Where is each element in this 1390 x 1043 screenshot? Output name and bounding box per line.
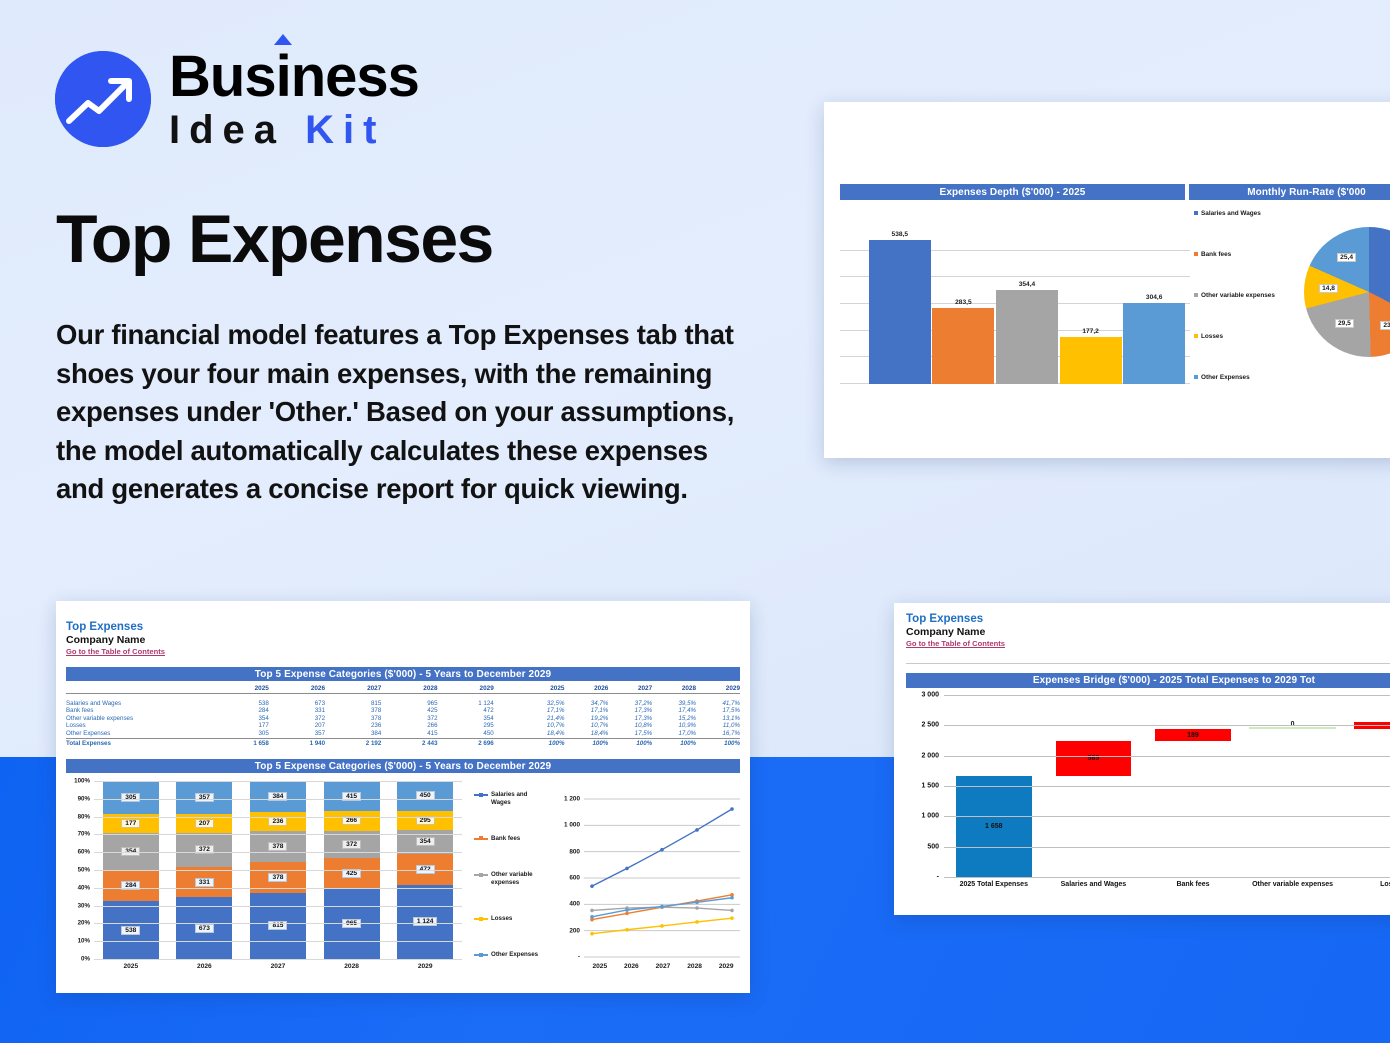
row-label: Bank fees (66, 707, 213, 715)
brand-letter-i-circumflex: i (276, 44, 291, 109)
top5-expense-table: 2025202620272028202920252026202720282029… (66, 685, 740, 747)
chart-title-monthly-run-rate: Monthly Run-Rate ($'000 (1189, 184, 1390, 200)
bar-column: 354,4 (995, 224, 1059, 384)
row-value: 236 (325, 722, 381, 730)
stacked-segment: 538 (103, 901, 159, 959)
y-tick: 70% (78, 831, 90, 838)
legend-label: Other Expenses (1201, 374, 1250, 382)
x-tick: 2026 (168, 963, 242, 970)
row-pct: 34,7% (564, 700, 608, 708)
row-pct: 41,7% (696, 700, 740, 708)
bar-value-label: 283,5 (955, 299, 972, 306)
y-tick: 80% (78, 813, 90, 820)
legend-label: Salaries and Wages (1201, 210, 1261, 218)
legend-label: Other Expenses (491, 951, 538, 959)
table-of-contents-link-bridge[interactable]: Go to the Table of Contents (906, 639, 1005, 648)
bar-rect (1123, 303, 1185, 384)
screenshot-card-expenses-bridge: Top Expenses Company Name Go to the Tabl… (894, 603, 1390, 915)
row-pct: 10,7% (521, 722, 565, 730)
bar-rect (869, 240, 931, 384)
table-of-contents-link[interactable]: Go to the Table of Contents (66, 647, 165, 656)
row-value: 305 (213, 730, 269, 738)
sheet-title: Top Expenses (66, 621, 165, 634)
table-year-header-pct: 2025 (521, 685, 565, 694)
legend-item: Other variable expenses (474, 871, 546, 887)
row-value: 378 (325, 715, 381, 723)
expenses-depth-legend: Salaries and WagesBank feesOther variabl… (1194, 210, 1286, 382)
row-value: 450 (438, 730, 494, 738)
row-pct: 10,8% (608, 722, 652, 730)
bridge-plot: 1 65858518901 (944, 695, 1390, 877)
stacked-segment: 372 (176, 833, 232, 867)
x-tick: Losses (1342, 881, 1390, 888)
y-tick: 2 500 (921, 722, 939, 729)
row-pct: 18,4% (521, 730, 565, 738)
stacked-segment: 378 (250, 831, 306, 862)
bridge-y-axis: -5001 0001 5002 0002 5003 000 (906, 695, 942, 877)
legend-label: Other variable expenses (491, 871, 546, 887)
legend-item: Bank fees (1194, 251, 1286, 259)
screenshot-card-expenses-depth: Expenses Depth ($'000) - 2025 Monthly Ru… (824, 102, 1390, 458)
brand-idea-text: Idea (169, 108, 305, 152)
row-value: 472 (438, 707, 494, 715)
stacked-segment: 357 (176, 781, 232, 814)
table-year-header: 2025 (213, 685, 269, 694)
total-pct: 100% (521, 738, 565, 747)
brand-name-line1: Business (169, 48, 419, 106)
legend-item: Other Expenses (1194, 374, 1286, 382)
sheet-subtitle-bridge: Company Name (906, 626, 1005, 639)
segment-value-label: 354 (416, 837, 435, 846)
row-label: Other variable expenses (66, 715, 213, 723)
table-row: Losses17720723626629510,7%10,7%10,8%10,9… (66, 722, 740, 730)
bridge-chart-title-bar: Expenses Bridge ($'000) - 2025 Total Exp… (906, 673, 1390, 688)
chart-title-expenses-depth: Expenses Depth ($'000) - 2025 (840, 184, 1185, 200)
row-pct: 18,4% (564, 730, 608, 738)
x-tick: 2025 Total Expenses (944, 881, 1044, 888)
line-x-axis: 20252026202720282029 (584, 963, 742, 970)
growth-arrow-icon (55, 51, 151, 147)
bar-series: 538,5283,5354,4177,2304,6 (868, 224, 1186, 384)
stacked-segment: 236 (250, 812, 306, 831)
total-label: Total Expenses (66, 738, 213, 747)
x-tick: Salaries and Wages (1044, 881, 1144, 888)
row-pct: 10,9% (652, 722, 696, 730)
legend-item: Salaries and Wages (474, 791, 546, 807)
expenses-depth-bar-chart: 538,5283,5354,4177,2304,6 (840, 206, 1190, 384)
row-value: 815 (325, 700, 381, 708)
sheet-title-bridge: Top Expenses (906, 613, 1005, 626)
stacked-segment: 815 (250, 893, 306, 959)
legend-label: Losses (1201, 333, 1223, 341)
expenses-bridge-waterfall-chart: -5001 0001 5002 0002 5003 000 1 65858518… (906, 695, 1390, 901)
legend-item: Losses (1194, 333, 1286, 341)
x-tick: Bank fees (1143, 881, 1243, 888)
segment-value-label: 177 (121, 819, 140, 828)
y-tick: 60% (78, 849, 90, 856)
y-tick: 0% (81, 956, 90, 963)
waterfall-bar: 1 658 (956, 776, 1032, 877)
bar-value-label: 304,6 (1146, 294, 1163, 301)
table-year-header: 2028 (381, 685, 437, 694)
monthly-run-rate-pie-chart: 44,923,629,514,825,4 (1304, 227, 1390, 359)
stacked-x-axis: 20252026202720282029 (94, 963, 462, 970)
sheet-header-bridge: Top Expenses Company Name Go to the Tabl… (906, 613, 1005, 648)
table-total-row: Total Expenses1 6581 9402 1922 4432 6961… (66, 738, 740, 747)
bridge-x-axis: 2025 Total ExpensesSalaries and WagesBan… (944, 881, 1390, 888)
row-value: 284 (213, 707, 269, 715)
page-description: Our financial model features a Top Expen… (56, 316, 756, 509)
table-year-header: 2027 (325, 685, 381, 694)
legend-swatch-icon (1194, 334, 1198, 338)
stacked-y-axis: 0%10%20%30%40%50%60%70%80%90%100% (66, 781, 92, 959)
total-value: 2 696 (438, 738, 494, 747)
row-pct: 17,1% (564, 707, 608, 715)
bar-value-label: 177,2 (1082, 328, 1099, 335)
legend-swatch-icon (1194, 293, 1198, 297)
waterfall-bar: 189 (1155, 729, 1231, 740)
x-tick: 2029 (710, 963, 742, 970)
segment-value-label: 378 (268, 842, 287, 851)
row-pct: 11,0% (696, 722, 740, 730)
total-value: 1 658 (213, 738, 269, 747)
y-tick: 10% (78, 938, 90, 945)
row-value: 177 (213, 722, 269, 730)
brand-text-bus: Bus (169, 44, 276, 109)
top5-line-chart: -2004006008001 0001 200 2025202620272028… (550, 785, 746, 985)
pie-value-label: 25,4 (1337, 253, 1356, 262)
row-pct: 17,5% (608, 730, 652, 738)
stacked-segment: 305 (103, 781, 159, 814)
row-value: 372 (381, 715, 437, 723)
bar-column: 177,2 (1059, 224, 1123, 384)
stacked-segment: 1 124 (397, 885, 453, 959)
row-value: 354 (213, 715, 269, 723)
x-tick: Other variable expenses (1243, 881, 1343, 888)
x-tick: 2027 (241, 963, 315, 970)
y-tick: 20% (78, 920, 90, 927)
bar-value-label: 354,4 (1019, 281, 1036, 288)
x-tick: 2028 (679, 963, 711, 970)
total-pct: 100% (696, 738, 740, 747)
row-value: 331 (269, 707, 325, 715)
bar-value-label: 538,5 (892, 231, 909, 238)
row-value: 354 (438, 715, 494, 723)
row-pct: 17,3% (608, 715, 652, 723)
row-value: 384 (325, 730, 381, 738)
segment-value-label: 331 (195, 878, 214, 887)
row-value: 372 (269, 715, 325, 723)
pie-value-label: 23,6 (1380, 321, 1390, 330)
brand-text-ness: ness (291, 44, 419, 109)
total-value: 2 192 (325, 738, 381, 747)
row-value: 415 (381, 730, 437, 738)
row-pct: 17,4% (652, 707, 696, 715)
sheet-subtitle: Company Name (66, 634, 165, 647)
row-pct: 13,1% (696, 715, 740, 723)
row-pct: 16,7% (696, 730, 740, 738)
total-pct: 100% (564, 738, 608, 747)
line-chart-legend: Salaries and WagesBank feesOther variabl… (474, 791, 546, 959)
table-row: Bank fees28433137842547217,1%17,1%17,3%1… (66, 707, 740, 715)
bar-column: 304,6 (1122, 224, 1186, 384)
x-tick: 2025 (94, 963, 168, 970)
row-value: 673 (269, 700, 325, 708)
row-pct: 39,5% (652, 700, 696, 708)
segment-value-label: 1 124 (413, 917, 438, 926)
y-tick: 30% (78, 902, 90, 909)
row-pct: 15,2% (652, 715, 696, 723)
brand-logo: Business Idea Kit (55, 48, 419, 150)
legend-line-icon (474, 916, 488, 921)
brand-name-line2: Idea Kit (169, 110, 419, 150)
x-tick: 2025 (584, 963, 616, 970)
legend-line-icon (474, 836, 488, 841)
total-pct: 100% (608, 738, 652, 747)
stacked-segment: 331 (176, 867, 232, 897)
total-pct: 100% (652, 738, 696, 747)
row-pct: 17,1% (521, 707, 565, 715)
segment-value-label: 372 (342, 840, 361, 849)
row-value: 538 (213, 700, 269, 708)
row-pct: 37,2% (608, 700, 652, 708)
row-value: 266 (381, 722, 437, 730)
row-label: Losses (66, 722, 213, 730)
segment-value-label: 378 (268, 873, 287, 882)
stacked-segment: 415 (324, 781, 380, 811)
row-pct: 10,7% (564, 722, 608, 730)
y-tick: 90% (78, 795, 90, 802)
row-value: 357 (269, 730, 325, 738)
row-pct: 32,5% (521, 700, 565, 708)
row-value: 295 (438, 722, 494, 730)
waterfall-bar: 585 (1056, 741, 1132, 776)
legend-item: Other Expenses (474, 951, 546, 959)
legend-line-icon (474, 952, 488, 957)
legend-swatch-icon (1194, 211, 1198, 215)
legend-line-icon (474, 872, 488, 877)
line-series (550, 785, 746, 963)
legend-label: Losses (491, 915, 512, 923)
waterfall-value-label: 1 658 (985, 823, 1003, 830)
row-value: 1 124 (438, 700, 494, 708)
bar-column: 283,5 (932, 224, 996, 384)
segment-value-label: 305 (121, 793, 140, 802)
y-tick: 40% (78, 884, 90, 891)
table-row: Salaries and Wages5386738159651 12432,5%… (66, 700, 740, 708)
divider (906, 663, 1390, 664)
row-value: 378 (325, 707, 381, 715)
row-pct: 17,5% (696, 707, 740, 715)
total-value: 2 443 (381, 738, 437, 747)
segment-value-label: 207 (195, 819, 214, 828)
legend-swatch-icon (1194, 252, 1198, 256)
table-year-header: 2026 (269, 685, 325, 694)
table-year-header-pct: 2026 (564, 685, 608, 694)
row-value: 425 (381, 707, 437, 715)
segment-value-label: 266 (342, 816, 361, 825)
stacked-segment: 425 (324, 858, 380, 889)
waterfall-zero-bar: 0 (1249, 727, 1337, 729)
waterfall-value-label: 189 (1187, 732, 1199, 739)
y-tick: 3 000 (921, 692, 939, 699)
y-tick: 2 000 (921, 752, 939, 759)
stacked-segment: 284 (103, 871, 159, 901)
bar-column: 538,5 (868, 224, 932, 384)
segment-value-label: 236 (268, 817, 287, 826)
top5-stacked-bar-chart: 0%10%20%30%40%50%60%70%80%90%100% 305177… (66, 781, 466, 981)
screenshot-card-top5-categories: Top Expenses Company Name Go to the Tabl… (56, 601, 750, 993)
y-tick: 50% (78, 867, 90, 874)
row-value: 207 (269, 722, 325, 730)
row-label: Salaries and Wages (66, 700, 213, 708)
row-pct: 21,4% (521, 715, 565, 723)
total-value: 1 940 (269, 738, 325, 747)
legend-item: Other variable expenses (1194, 292, 1286, 300)
legend-label: Salaries and Wages (491, 791, 546, 807)
row-value: 965 (381, 700, 437, 708)
x-tick: 2028 (315, 963, 389, 970)
bar-rect (996, 290, 1058, 385)
row-pct: 17,0% (652, 730, 696, 738)
legend-label: Other variable expenses (1201, 292, 1275, 300)
bar-rect (932, 308, 994, 384)
stacked-segment: 295 (397, 811, 453, 830)
stacked-segment: 266 (324, 811, 380, 830)
brand-kit-text: Kit (305, 108, 385, 152)
stacked-segment: 450 (397, 781, 453, 811)
stacked-chart-title-bar: Top 5 Expense Categories ($'000) - 5 Yea… (66, 759, 740, 773)
y-tick: 1 000 (921, 813, 939, 820)
stacked-plot: 3051773542845383572073723316733842363783… (94, 781, 462, 959)
pie-slices (1304, 227, 1390, 357)
table-title-bar: Top 5 Expense Categories ($'000) - 5 Yea… (66, 667, 740, 681)
x-tick: 2027 (647, 963, 679, 970)
segment-value-label: 538 (121, 926, 140, 935)
x-tick: 2029 (388, 963, 462, 970)
legend-label: Bank fees (1201, 251, 1231, 259)
bar-rect (1060, 337, 1122, 384)
y-tick: 100% (74, 778, 90, 785)
row-pct: 19,2% (564, 715, 608, 723)
y-tick: - (937, 874, 939, 881)
legend-swatch-icon (1194, 375, 1198, 379)
row-label: Other Expenses (66, 730, 213, 738)
stacked-segment: 384 (250, 781, 306, 812)
pie-value-label: 14,8 (1319, 284, 1338, 293)
table-row: Other variable expenses35437237837235421… (66, 715, 740, 723)
segment-value-label: 673 (195, 924, 214, 933)
y-tick: 1 500 (921, 783, 939, 790)
legend-item: Bank fees (474, 835, 546, 843)
table-year-header: 2029 (438, 685, 494, 694)
table-row: Other Expenses30535738441545018,4%18,4%1… (66, 730, 740, 738)
legend-item: Salaries and Wages (1194, 210, 1286, 218)
y-tick: 500 (927, 843, 939, 850)
legend-label: Bank fees (491, 835, 520, 843)
table-year-header-pct: 2027 (608, 685, 652, 694)
table-year-header-pct: 2029 (696, 685, 740, 694)
legend-item: Losses (474, 915, 546, 923)
table-year-header-pct: 2028 (652, 685, 696, 694)
row-pct: 17,3% (608, 707, 652, 715)
sheet-header: Top Expenses Company Name Go to the Tabl… (66, 621, 165, 656)
chart-title-bar-row: Expenses Depth ($'000) - 2025 Monthly Ru… (840, 184, 1390, 200)
x-tick: 2026 (616, 963, 648, 970)
segment-value-label: 284 (121, 881, 140, 890)
legend-line-icon (474, 792, 488, 797)
pie-value-label: 29,5 (1335, 319, 1354, 328)
page-title: Top Expenses (56, 205, 493, 273)
segment-value-label: 357 (195, 793, 214, 802)
